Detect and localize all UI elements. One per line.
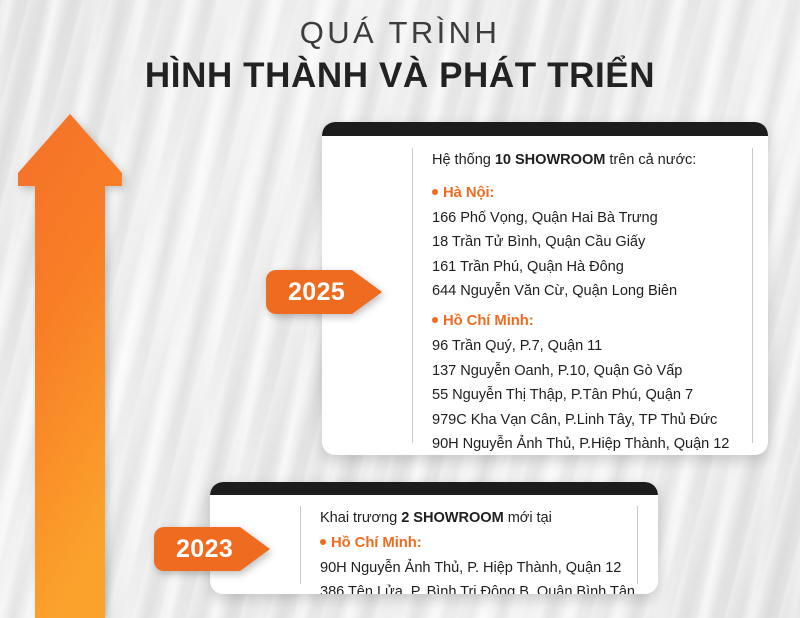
card-intro-line: Khai trương 2 SHOWROOM mới tại bbox=[320, 506, 630, 531]
card-topbar bbox=[322, 122, 768, 136]
intro-prefix: Hệ thống bbox=[432, 152, 495, 168]
group-name: Hà Nội: bbox=[443, 185, 494, 201]
card-left-divider bbox=[412, 148, 413, 443]
intro-suffix: mới tại bbox=[504, 510, 552, 526]
year-badge-2023[interactable]: 2023 bbox=[154, 527, 270, 571]
address-line: 18 Trần Tử Bình, Quận Cầu Giấy bbox=[432, 230, 742, 255]
group-heading-hcm: Hồ Chí Minh: bbox=[320, 531, 630, 556]
card-right-divider bbox=[637, 506, 638, 584]
card-content-2023: Khai trương 2 SHOWROOM mới tại Hồ Chí Mi… bbox=[320, 506, 630, 594]
card-left-divider bbox=[300, 506, 301, 584]
address-line: 137 Nguyễn Oanh, P.10, Quận Gò Vấp bbox=[432, 359, 742, 384]
timeline-card-2023: Khai trương 2 SHOWROOM mới tại Hồ Chí Mi… bbox=[210, 482, 658, 594]
address-line: 644 Nguyễn Văn Cừ, Quận Long Biên bbox=[432, 279, 742, 304]
card-topbar bbox=[210, 482, 658, 495]
address-line: 166 Phố Vọng, Quận Hai Bà Trưng bbox=[432, 206, 742, 231]
address-line: 979C Kha Vạn Cân, P.Linh Tây, TP Thủ Đức bbox=[432, 408, 742, 433]
address-line: 96 Trần Quý, P.7, Quận 11 bbox=[432, 334, 742, 359]
spacer bbox=[432, 173, 742, 181]
bullet-dot-icon bbox=[320, 539, 326, 545]
title-line-top: QUÁ TRÌNH bbox=[0, 16, 800, 51]
address-line: 90H Nguyễn Ảnh Thủ, P.Hiệp Thành, Quận 1… bbox=[432, 432, 742, 455]
up-arrow-icon bbox=[18, 114, 122, 618]
card-intro-line: Hệ thống 10 SHOWROOM trên cả nước: bbox=[432, 148, 742, 173]
address-line: 90H Nguyễn Ảnh Thủ, P. Hiệp Thành, Quận … bbox=[320, 556, 630, 581]
address-line: 161 Trần Phú, Quận Hà Đông bbox=[432, 255, 742, 280]
group-name: Hồ Chí Minh: bbox=[443, 313, 534, 329]
group-heading-hcm: Hồ Chí Minh: bbox=[432, 309, 742, 334]
page-title: QUÁ TRÌNH HÌNH THÀNH VÀ PHÁT TRIỂN bbox=[0, 16, 800, 97]
bullet-dot-icon bbox=[432, 189, 438, 195]
year-badge-2025[interactable]: 2025 bbox=[266, 270, 382, 314]
intro-prefix: Khai trương bbox=[320, 510, 401, 526]
intro-suffix: trên cả nước: bbox=[605, 152, 696, 168]
card-right-divider bbox=[752, 148, 753, 443]
group-name: Hồ Chí Minh: bbox=[331, 535, 422, 551]
address-line: 55 Nguyễn Thị Thập, P.Tân Phú, Quận 7 bbox=[432, 383, 742, 408]
card-content-2025: Hệ thống 10 SHOWROOM trên cả nước: Hà Nộ… bbox=[432, 148, 742, 455]
group-heading-hanoi: Hà Nội: bbox=[432, 181, 742, 206]
bullet-dot-icon bbox=[432, 317, 438, 323]
intro-strong: 10 SHOWROOM bbox=[495, 152, 606, 168]
year-label: 2023 bbox=[154, 527, 270, 571]
infographic-canvas: QUÁ TRÌNH HÌNH THÀNH VÀ PHÁT TRIỂN Hệ th… bbox=[0, 0, 800, 618]
year-label: 2025 bbox=[266, 270, 382, 314]
timeline-card-2025: Hệ thống 10 SHOWROOM trên cả nước: Hà Nộ… bbox=[322, 122, 768, 455]
title-line-main: HÌNH THÀNH VÀ PHÁT TRIỂN bbox=[0, 55, 800, 97]
address-line: 386 Tên Lửa, P. Bình Trị Đông B, Quận Bì… bbox=[320, 580, 630, 594]
intro-strong: 2 SHOWROOM bbox=[401, 510, 503, 526]
